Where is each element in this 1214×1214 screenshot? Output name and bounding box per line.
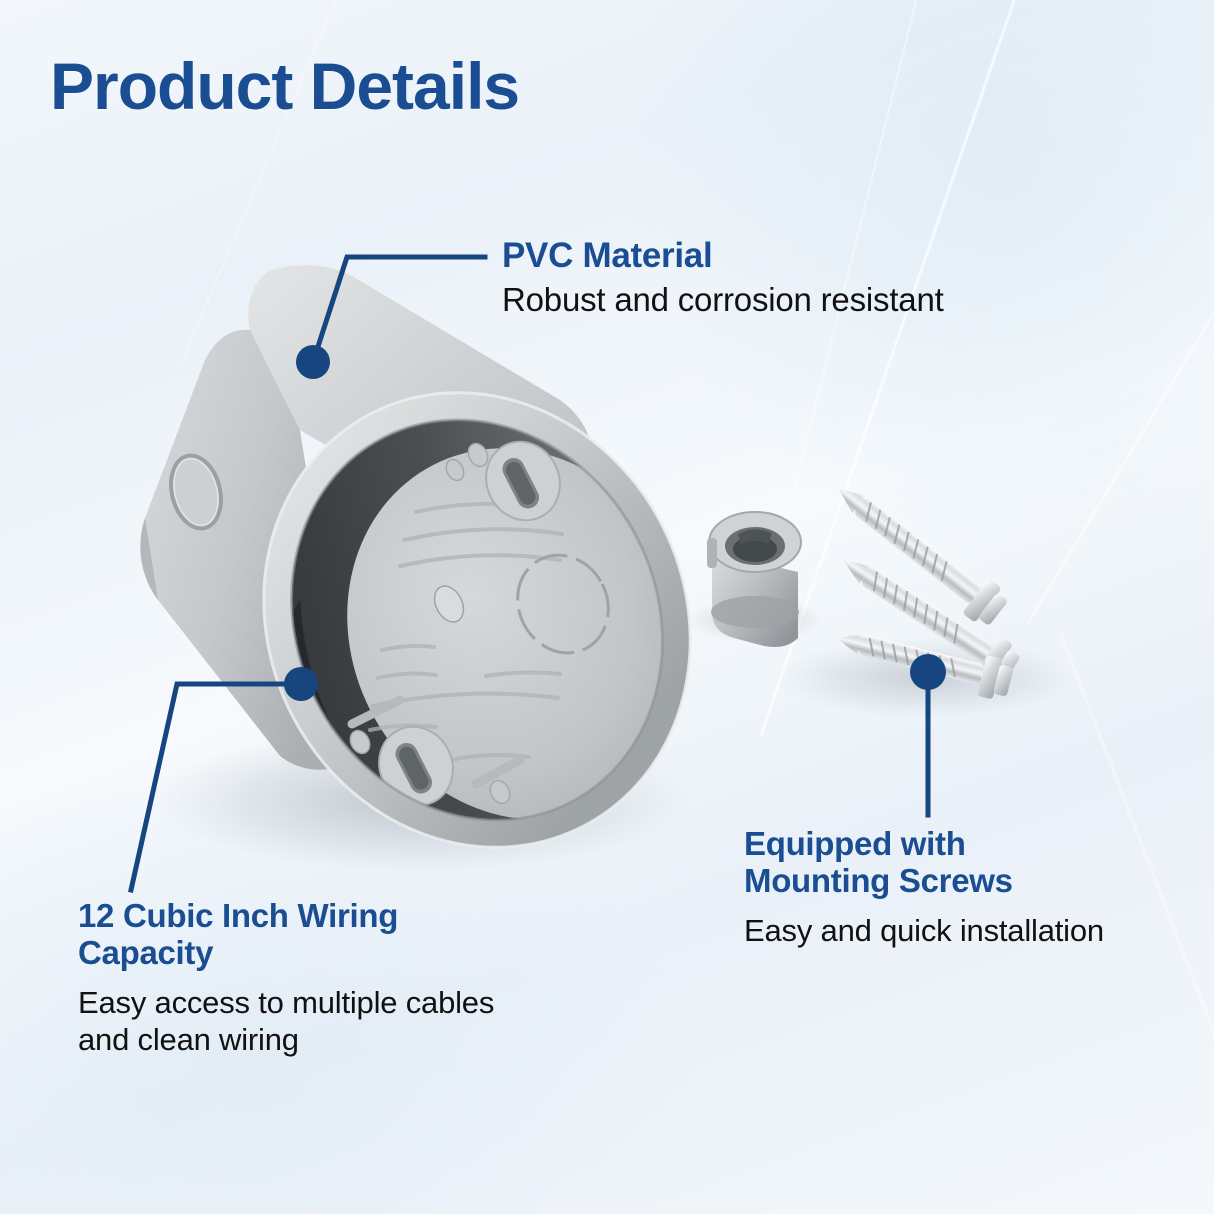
- leader-line-pvc: [313, 257, 485, 362]
- callout-title-pvc-material: PVC Material: [502, 236, 944, 275]
- callout-title-line: Mounting Screws: [744, 863, 1194, 900]
- callout-subtitle-mounting-screws: Easy and quick installation: [744, 912, 1194, 949]
- callout-title-line: 12 Cubic Inch Wiring: [78, 898, 598, 935]
- leader-dot-pvc: [296, 345, 330, 379]
- callout-subtitle-wiring-capacity: Easy access to multiple cables and clean…: [78, 984, 598, 1058]
- callout-wiring-capacity: 12 Cubic Inch Wiring Capacity Easy acces…: [78, 898, 598, 1058]
- callout-mounting-screws: Equipped with Mounting Screws Easy and q…: [744, 826, 1194, 949]
- callout-subtitle-line: Easy access to multiple cables: [78, 984, 598, 1021]
- callout-title-line: Equipped with: [744, 826, 1194, 863]
- leader-dot-screws: [910, 654, 946, 690]
- callout-pvc-material: PVC Material Robust and corrosion resist…: [502, 236, 944, 320]
- callout-title-line: Capacity: [78, 935, 598, 972]
- leader-line-capacity: [131, 684, 301, 890]
- callout-subtitle-pvc-material: Robust and corrosion resistant: [502, 280, 944, 320]
- callout-subtitle-line: and clean wiring: [78, 1021, 598, 1058]
- page-title: Product Details: [50, 48, 519, 124]
- infographic-canvas: Product Details PVC Material Robust and …: [0, 0, 1214, 1214]
- callout-title-mounting-screws: Equipped with Mounting Screws: [744, 826, 1194, 900]
- leader-dot-capacity: [284, 667, 318, 701]
- callout-title-wiring-capacity: 12 Cubic Inch Wiring Capacity: [78, 898, 598, 972]
